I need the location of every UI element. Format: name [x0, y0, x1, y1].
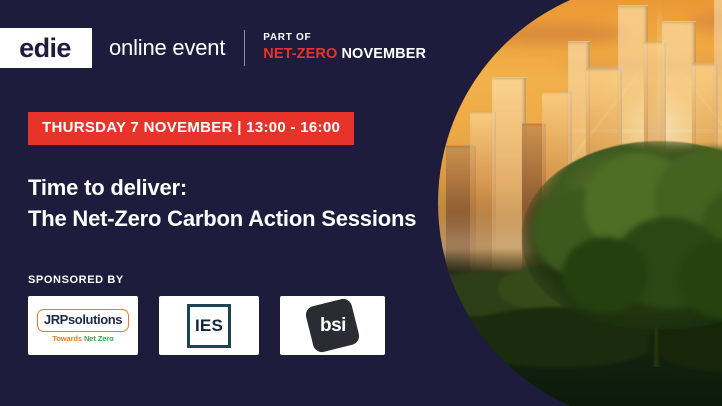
- jrp-solutions-word: solutions: [68, 312, 122, 327]
- sponsors-section: SPONSORED BY JRPsolutions Towards Net Ze…: [28, 274, 385, 355]
- edie-logo-text: edie: [19, 35, 73, 62]
- sponsor-logo-row: JRPsolutions Towards Net Zero IES bsi: [28, 296, 385, 355]
- part-of-label: PART OF: [263, 32, 426, 44]
- sponsor-logo-ies[interactable]: IES: [159, 296, 259, 355]
- bsi-logo-tile: bsi: [304, 297, 361, 354]
- ies-logo-text: IES: [195, 316, 223, 336]
- date-time-banner: THURSDAY 7 NOVEMBER | 13:00 - 16:00: [28, 112, 354, 145]
- net-zero-november-label: NET-ZERO NOVEMBER: [263, 45, 426, 63]
- page-title: Time to deliver: The Net-Zero Carbon Act…: [28, 172, 416, 234]
- november-text: NOVEMBER: [337, 46, 426, 62]
- jrp-tagline-net-zero: Net Zero: [84, 334, 114, 343]
- header-divider: [244, 30, 245, 66]
- event-promo-banner: edie online event PART OF NET-ZERO NOVEM…: [0, 0, 722, 406]
- jrp-logo-wordmark: JRPsolutions: [44, 312, 122, 327]
- sponsor-logo-jrp-solutions[interactable]: JRPsolutions Towards Net Zero: [28, 296, 138, 355]
- jrp-logo-tagline: Towards Net Zero: [52, 334, 113, 343]
- header-row: edie online event PART OF NET-ZERO NOVEM…: [0, 28, 426, 68]
- sponsored-by-label: SPONSORED BY: [28, 274, 385, 286]
- jrp-logo: JRPsolutions Towards Net Zero: [37, 309, 129, 343]
- title-line-1: Time to deliver:: [28, 172, 416, 203]
- title-line-2: The Net-Zero Carbon Action Sessions: [28, 203, 416, 234]
- date-time-text: THURSDAY 7 NOVEMBER | 13:00 - 16:00: [42, 119, 340, 136]
- jrp-logo-pill: JRPsolutions: [37, 309, 129, 332]
- edie-logo[interactable]: edie: [0, 28, 92, 68]
- sponsor-logo-bsi[interactable]: bsi: [280, 296, 385, 355]
- net-zero-highlight: NET-ZERO: [263, 46, 337, 62]
- banner-content: edie online event PART OF NET-ZERO NOVEM…: [0, 0, 722, 406]
- bsi-logo-text: bsi: [320, 316, 346, 335]
- jrp-initials: JRP: [44, 312, 68, 327]
- part-of-block: PART OF NET-ZERO NOVEMBER: [263, 32, 426, 63]
- jrp-tagline-towards: Towards: [52, 334, 84, 343]
- online-event-label: online event: [109, 35, 225, 61]
- ies-logo-square: IES: [187, 304, 231, 348]
